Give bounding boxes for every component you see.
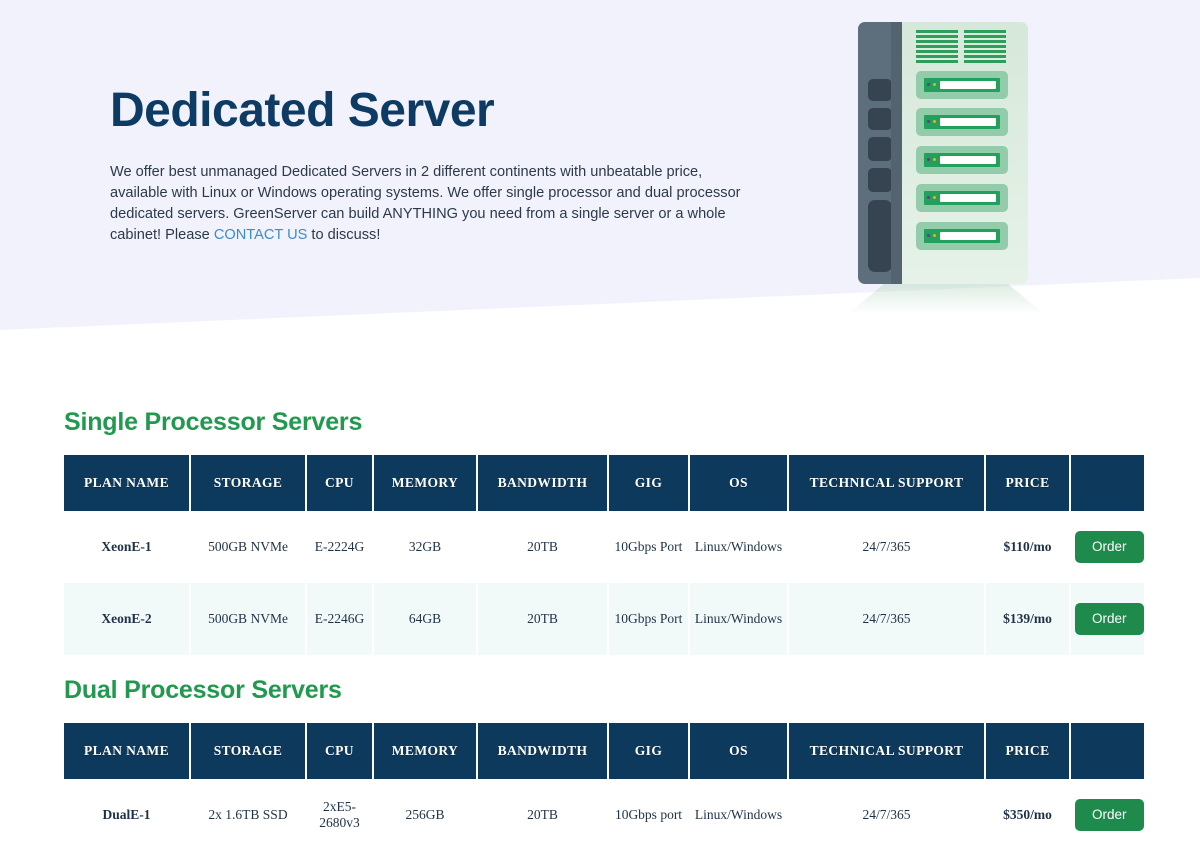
server-drive-bay <box>916 146 1008 174</box>
drive-label-bar <box>940 81 996 89</box>
drive-led-icon <box>927 83 930 86</box>
single-processor-table: PLAN NAME STORAGE CPU MEMORY BANDWIDTH G… <box>64 455 1144 655</box>
order-button[interactable]: Order <box>1075 799 1144 831</box>
column-header-price: PRICE <box>986 723 1071 779</box>
server-vent-stripes-icon <box>964 30 1006 63</box>
drive-led-icon <box>927 158 930 161</box>
column-header-order <box>1071 723 1144 779</box>
column-header-storage: STORAGE <box>191 723 307 779</box>
cell-plan-name: XeonE-1 <box>64 511 191 583</box>
server-slot-icon <box>868 168 892 192</box>
server-vent-stripes-icon <box>916 30 958 63</box>
page-title: Dedicated Server <box>110 86 770 136</box>
column-header-plan-name: PLAN NAME <box>64 455 191 511</box>
cell-price: $139/mo <box>986 583 1071 655</box>
cell-storage: 500GB NVMe <box>191 511 307 583</box>
table-header-row: PLAN NAME STORAGE CPU MEMORY BANDWIDTH G… <box>64 723 1144 779</box>
column-header-os: OS <box>690 723 789 779</box>
drive-led-icon <box>927 196 930 199</box>
drive-label-bar <box>940 232 996 240</box>
server-drive-bay <box>916 184 1008 212</box>
cell-memory: 32GB <box>374 511 478 583</box>
column-header-support: TECHNICAL SUPPORT <box>789 723 986 779</box>
section-title-dual: Dual Processor Servers <box>64 676 1136 705</box>
drive-led-icon <box>933 83 936 86</box>
column-header-memory: MEMORY <box>374 455 478 511</box>
column-header-storage: STORAGE <box>191 455 307 511</box>
server-vent-icon <box>868 200 892 272</box>
cell-os: Linux/Windows <box>690 511 789 583</box>
drive-bay-face <box>924 229 1000 243</box>
dual-processor-table: PLAN NAME STORAGE CPU MEMORY BANDWIDTH G… <box>64 723 1144 851</box>
order-button[interactable]: Order <box>1075 603 1144 635</box>
cell-os: Linux/Windows <box>690 779 789 851</box>
cell-cpu: 2xE5-2680v3 <box>307 779 374 851</box>
cell-gig: 10Gbps port <box>609 779 690 851</box>
table-header-row: PLAN NAME STORAGE CPU MEMORY BANDWIDTH G… <box>64 455 1144 511</box>
server-drive-bay <box>916 71 1008 99</box>
drive-led-icon <box>933 158 936 161</box>
cell-order: Order <box>1071 779 1144 851</box>
table-row: XeonE-2 500GB NVMe E-2246G 64GB 20TB 10G… <box>64 583 1144 655</box>
single-processor-section: Single Processor Servers PLAN NAME STORA… <box>64 408 1136 655</box>
column-header-plan-name: PLAN NAME <box>64 723 191 779</box>
column-header-bandwidth: BANDWIDTH <box>478 455 609 511</box>
drive-bay-face <box>924 153 1000 167</box>
drive-led-icon <box>927 120 930 123</box>
table-row: DualE-1 2x 1.6TB SSD 2xE5-2680v3 256GB 2… <box>64 779 1144 851</box>
cell-bandwidth: 20TB <box>478 511 609 583</box>
cell-bandwidth: 20TB <box>478 779 609 851</box>
cell-plan-name: DualE-1 <box>64 779 191 851</box>
cell-memory: 256GB <box>374 779 478 851</box>
cell-support: 24/7/365 <box>789 779 986 851</box>
column-header-cpu: CPU <box>307 723 374 779</box>
cell-gig: 10Gbps Port <box>609 583 690 655</box>
cell-price: $110/mo <box>986 511 1071 583</box>
cell-support: 24/7/365 <box>789 583 986 655</box>
hero-description-part-1: We offer best unmanaged Dedicated Server… <box>110 164 741 242</box>
server-slot-icon <box>868 137 892 161</box>
column-header-order <box>1071 455 1144 511</box>
hero-text-block: Dedicated Server We offer best unmanaged… <box>110 86 770 245</box>
cell-gig: 10Gbps Port <box>609 511 690 583</box>
cell-storage: 500GB NVMe <box>191 583 307 655</box>
cell-order: Order <box>1071 583 1144 655</box>
drive-led-icon <box>933 120 936 123</box>
cell-bandwidth: 20TB <box>478 583 609 655</box>
hero-description: We offer best unmanaged Dedicated Server… <box>110 162 755 245</box>
cell-storage: 2x 1.6TB SSD <box>191 779 307 851</box>
cell-cpu: E-2246G <box>307 583 374 655</box>
column-header-gig: GIG <box>609 723 690 779</box>
hero-description-part-2: to discuss! <box>307 227 380 243</box>
dual-processor-section: Dual Processor Servers PLAN NAME STORAGE… <box>64 676 1136 851</box>
server-drive-bay <box>916 222 1008 250</box>
server-slot-icon <box>868 79 892 101</box>
hero-banner: Dedicated Server We offer best unmanaged… <box>0 0 1200 340</box>
server-rack-illustration <box>840 10 1060 310</box>
cell-memory: 64GB <box>374 583 478 655</box>
server-left-panel <box>858 22 902 284</box>
column-header-memory: MEMORY <box>374 723 478 779</box>
cell-price: $350/mo <box>986 779 1071 851</box>
table-row: XeonE-1 500GB NVMe E-2224G 32GB 20TB 10G… <box>64 511 1144 583</box>
contact-us-link[interactable]: CONTACT US <box>214 227 308 243</box>
drive-led-icon <box>927 234 930 237</box>
column-header-bandwidth: BANDWIDTH <box>478 723 609 779</box>
drive-bay-face <box>924 191 1000 205</box>
column-header-price: PRICE <box>986 455 1071 511</box>
section-title-single: Single Processor Servers <box>64 408 1136 437</box>
drive-led-icon <box>933 234 936 237</box>
drive-bay-face <box>924 78 1000 92</box>
column-header-gig: GIG <box>609 455 690 511</box>
drive-label-bar <box>940 194 996 202</box>
cell-order: Order <box>1071 511 1144 583</box>
cell-support: 24/7/365 <box>789 511 986 583</box>
server-drive-bay <box>916 108 1008 136</box>
column-header-support: TECHNICAL SUPPORT <box>789 455 986 511</box>
drive-bay-face <box>924 115 1000 129</box>
drive-label-bar <box>940 156 996 164</box>
cell-plan-name: XeonE-2 <box>64 583 191 655</box>
cell-os: Linux/Windows <box>690 583 789 655</box>
drive-label-bar <box>940 118 996 126</box>
server-slot-icon <box>868 108 892 130</box>
order-button[interactable]: Order <box>1075 531 1144 563</box>
drive-led-icon <box>933 196 936 199</box>
column-header-cpu: CPU <box>307 455 374 511</box>
column-header-os: OS <box>690 455 789 511</box>
cell-cpu: E-2224G <box>307 511 374 583</box>
